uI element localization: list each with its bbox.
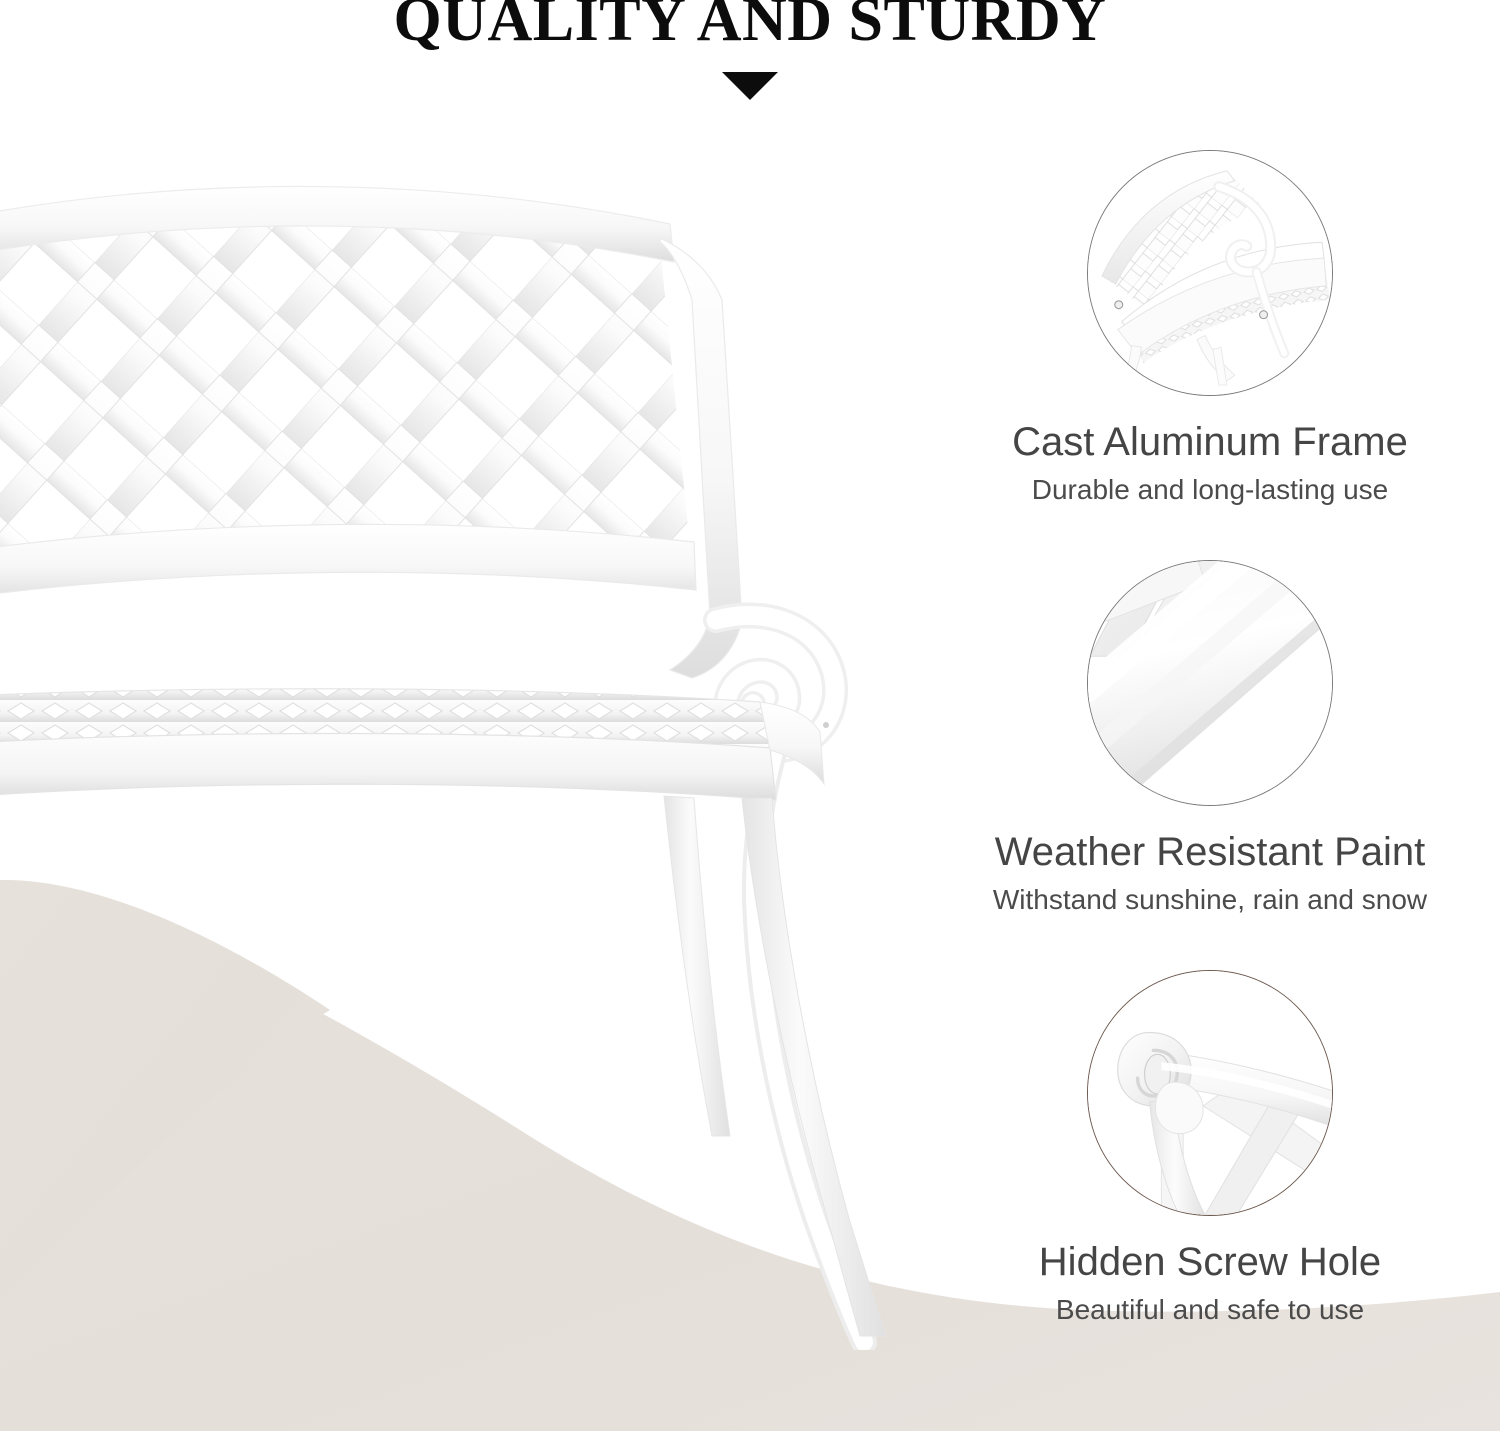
feature-subtitle: Beautiful and safe to use	[930, 1292, 1490, 1328]
hero-product-image	[0, 150, 930, 1350]
seat	[0, 689, 824, 800]
feature-thumbnail-hidden-screw-hole[interactable]	[1087, 970, 1333, 1216]
feature-list: Cast Aluminum Frame Durable and long-las…	[930, 150, 1490, 1380]
feature-weather-resistant-paint: Weather Resistant Paint Withstand sunshi…	[930, 560, 1490, 918]
feature-subtitle: Durable and long-lasting use	[930, 472, 1490, 508]
screw-joint-closeup-photo-icon	[1088, 971, 1332, 1215]
header: QUALITY AND STURDY	[0, 0, 1500, 100]
feature-cast-aluminum-frame: Cast Aluminum Frame Durable and long-las…	[930, 150, 1490, 508]
bench-angle-photo-icon	[1088, 151, 1332, 395]
feature-title: Weather Resistant Paint	[930, 828, 1490, 876]
page-title: QUALITY AND STURDY	[0, 0, 1500, 49]
feature-thumbnail-cast-aluminum-frame[interactable]	[1087, 150, 1333, 396]
feature-title: Hidden Screw Hole	[930, 1238, 1490, 1286]
feature-thumbnail-weather-resistant-paint[interactable]	[1087, 560, 1333, 806]
feature-subtitle: Withstand sunshine, rain and snow	[930, 882, 1490, 918]
screw-head-icon	[1260, 311, 1268, 319]
triangle-down-icon	[722, 72, 778, 100]
feature-hidden-screw-hole: Hidden Screw Hole Beautiful and safe to …	[930, 970, 1490, 1328]
bench-illustration	[0, 150, 930, 1350]
feature-title: Cast Aluminum Frame	[930, 418, 1490, 466]
painted-rail-closeup-photo-icon	[1088, 561, 1332, 805]
backrest-lattice	[0, 180, 730, 620]
screw-dot	[823, 722, 829, 728]
screw-head-icon	[1115, 301, 1123, 309]
product-feature-panel: QUALITY AND STURDY	[0, 0, 1500, 1431]
